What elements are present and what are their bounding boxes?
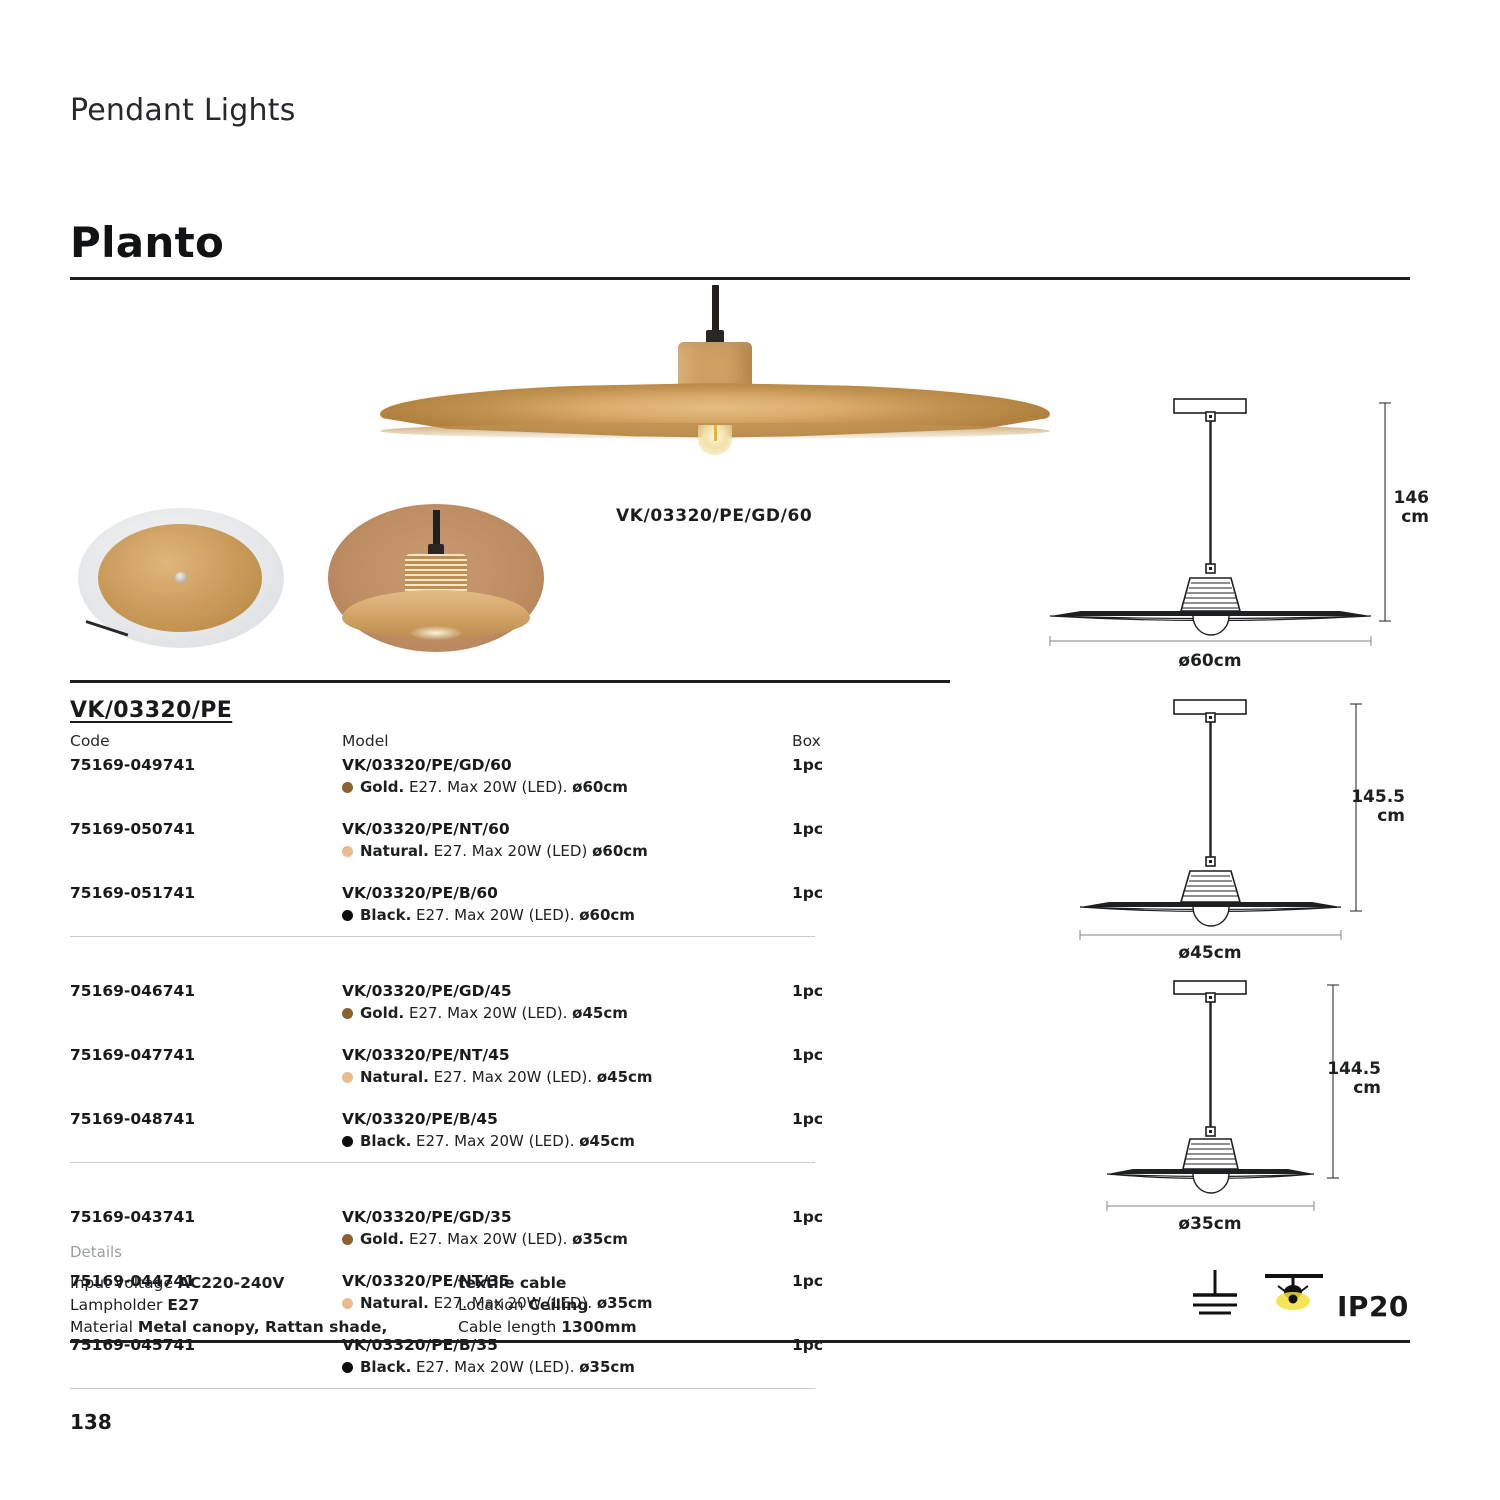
technical-drawing-35cm: 144.5 cm ø35cm <box>1040 975 1440 1250</box>
cord-graphic <box>712 285 719 335</box>
tech-height-unit: cm <box>1401 507 1429 527</box>
hero-caption: VK/03320/PE/GD/60 <box>616 506 812 526</box>
tech-height-value: 145.5 <box>1351 787 1405 807</box>
detail-line: Input voltage AC220-240V <box>70 1272 387 1294</box>
earth-ground-icon <box>1193 1270 1237 1313</box>
tech-diameter-label: ø45cm <box>1178 943 1241 963</box>
color-swatch-icon <box>342 1362 353 1373</box>
cell-model: VK/03320/PE/NT/45 <box>342 1046 510 1064</box>
tech-diameter-label: ø35cm <box>1178 1214 1241 1234</box>
diameter-text: ø60cm <box>592 842 648 860</box>
cell-model: VK/03320/PE/NT/60 <box>342 820 510 838</box>
finish-name: Black. <box>360 1132 411 1150</box>
table-row[interactable]: 75169-050741VK/03320/PE/NT/601pcNatural.… <box>70 820 830 838</box>
diameter-text: ø45cm <box>579 1132 635 1150</box>
cell-description: Black. E27. Max 20W (LED). ø35cm <box>342 1358 635 1376</box>
detail-line: textile cable <box>458 1272 637 1294</box>
finish-name: Black. <box>360 906 411 924</box>
sku-heading: VK/03320/PE <box>70 698 232 723</box>
ceiling-mount-icon <box>1265 1276 1323 1310</box>
product-table: Code Model Box 75169-049741VK/03320/PE/G… <box>70 732 830 750</box>
detail-value: Metal canopy, Rattan shade, <box>138 1318 387 1336</box>
spec-text: E27. Max 20W (LED) <box>429 842 592 860</box>
table-row[interactable]: 75169-051741VK/03320/PE/B/601pcBlack. E2… <box>70 884 830 902</box>
diameter-text: ø45cm <box>572 1004 628 1022</box>
cell-box: 1pc <box>792 1272 823 1290</box>
details-column-right: textile cableLocation CeilingCable lengt… <box>458 1272 637 1338</box>
technical-drawing-svg: 145.5 cm ø45cm <box>1040 690 1440 965</box>
diameter-text: ø60cm <box>572 778 628 796</box>
technical-drawing-svg: 144.5 cm ø35cm <box>1040 975 1440 1250</box>
cell-box: 1pc <box>792 1046 823 1064</box>
cell-model: VK/03320/PE/GD/45 <box>342 982 512 1000</box>
details-column-left: Input voltage AC220-240VLampholder E27Ma… <box>70 1272 387 1338</box>
thumbnail-light-glow-graphic <box>410 626 462 640</box>
detail-key: Lampholder <box>70 1296 167 1314</box>
spec-text: E27. Max 20W (LED). <box>411 1132 579 1150</box>
detail-key: Input voltage <box>70 1274 178 1292</box>
table-row[interactable]: 75169-049741VK/03320/PE/GD/601pcGold. E2… <box>70 756 830 774</box>
cell-model: VK/03320/PE/GD/60 <box>342 756 512 774</box>
cell-code: 75169-046741 <box>70 982 195 1000</box>
cell-code: 75169-048741 <box>70 1110 195 1128</box>
ip-rating-label: IP20 <box>1337 1290 1409 1323</box>
column-header-box: Box <box>792 732 821 750</box>
color-swatch-icon <box>342 846 353 857</box>
color-swatch-icon <box>342 910 353 921</box>
tech-height-value: 144.5 <box>1327 1059 1381 1079</box>
cell-box: 1pc <box>792 982 823 1000</box>
table-row[interactable]: 75169-043741VK/03320/PE/GD/351pcGold. E2… <box>70 1208 830 1226</box>
cell-code: 75169-043741 <box>70 1208 195 1226</box>
cell-box: 1pc <box>792 1336 823 1354</box>
cell-description: Gold. E27. Max 20W (LED). ø60cm <box>342 778 628 796</box>
thumbnail-cord-graphic <box>433 510 440 548</box>
finish-name: Natural. <box>360 842 429 860</box>
detail-key: Location <box>458 1296 528 1314</box>
header-divider <box>70 277 1410 280</box>
finish-name: Gold. <box>360 778 404 796</box>
spec-text: E27. Max 20W (LED). <box>411 906 579 924</box>
cell-description: Gold. E27. Max 20W (LED). ø45cm <box>342 1004 628 1022</box>
table-header-row: Code Model Box <box>70 732 830 750</box>
cell-box: 1pc <box>792 1110 823 1128</box>
cell-model: VK/03320/PE/B/35 <box>342 1336 498 1354</box>
diameter-text: ø45cm <box>597 1068 653 1086</box>
cell-model: VK/03320/PE/GD/35 <box>342 1208 512 1226</box>
cell-description: Natural. E27. Max 20W (LED) ø60cm <box>342 842 648 860</box>
table-group-separator <box>70 1388 815 1389</box>
detail-line: Cable length 1300mm <box>458 1316 637 1338</box>
technical-drawing-60cm: 146 cm ø60cm <box>1040 385 1440 675</box>
tech-height-unit: cm <box>1353 1078 1381 1098</box>
spec-text: E27. Max 20W (LED). <box>404 1230 572 1248</box>
detail-key: Material <box>70 1318 138 1336</box>
cell-code: 75169-047741 <box>70 1046 195 1064</box>
finish-name: Gold. <box>360 1004 404 1022</box>
detail-line: Lampholder E27 <box>70 1294 387 1316</box>
diameter-text: ø35cm <box>572 1230 628 1248</box>
cell-description: Black. E27. Max 20W (LED). ø60cm <box>342 906 635 924</box>
table-group-separator <box>70 936 815 937</box>
cell-description: Black. E27. Max 20W (LED). ø45cm <box>342 1132 635 1150</box>
spec-text: E27. Max 20W (LED). <box>404 778 572 796</box>
cell-box: 1pc <box>792 884 823 902</box>
details-label: Details <box>70 1243 122 1261</box>
detail-value: 1300mm <box>561 1318 636 1336</box>
finish-name: Natural. <box>360 1068 429 1086</box>
table-row[interactable]: 75169-046741VK/03320/PE/GD/451pcGold. E2… <box>70 982 830 1000</box>
cell-code: 75169-049741 <box>70 756 195 774</box>
diameter-text: ø60cm <box>579 906 635 924</box>
section-divider <box>70 680 950 683</box>
hero-product-image <box>380 285 1050 470</box>
page-title: Planto <box>70 218 224 267</box>
cell-code: 75169-050741 <box>70 820 195 838</box>
detail-key: Cable length <box>458 1318 561 1336</box>
finish-name: Black. <box>360 1358 411 1376</box>
cell-box: 1pc <box>792 756 823 774</box>
table-group-separator <box>70 1162 815 1163</box>
technical-drawing-45cm: 145.5 cm ø45cm <box>1040 690 1440 965</box>
color-swatch-icon <box>342 1136 353 1147</box>
thumbnail-screw-graphic <box>175 572 187 583</box>
cell-description: Gold. E27. Max 20W (LED). ø35cm <box>342 1230 628 1248</box>
cell-code: 75169-045741 <box>70 1336 195 1354</box>
cell-code: 75169-051741 <box>70 884 195 902</box>
color-swatch-icon <box>342 1234 353 1245</box>
column-header-model: Model <box>342 732 389 750</box>
spec-text: E27. Max 20W (LED). <box>404 1004 572 1022</box>
table-row[interactable]: 75169-045741VK/03320/PE/B/351pcBlack. E2… <box>70 1336 830 1354</box>
cell-box: 1pc <box>792 1208 823 1226</box>
detail-value: textile cable <box>458 1274 566 1292</box>
cell-description: Natural. E27. Max 20W (LED). ø45cm <box>342 1068 653 1086</box>
filament-graphic <box>714 425 717 441</box>
color-swatch-icon <box>342 782 353 793</box>
cell-model: VK/03320/PE/B/60 <box>342 884 498 902</box>
technical-drawing-svg: 146 cm ø60cm <box>1040 385 1440 675</box>
table-row[interactable]: 75169-048741VK/03320/PE/B/451pcBlack. E2… <box>70 1110 830 1128</box>
category-title: Pendant Lights <box>70 93 296 128</box>
color-swatch-icon <box>342 1008 353 1019</box>
detail-line: Location Ceiling <box>458 1294 637 1316</box>
color-swatch-icon <box>342 1072 353 1083</box>
column-header-code: Code <box>70 732 110 750</box>
cell-model: VK/03320/PE/B/45 <box>342 1110 498 1128</box>
detail-value: E27 <box>167 1296 199 1314</box>
table-row[interactable]: 75169-047741VK/03320/PE/NT/451pcNatural.… <box>70 1046 830 1064</box>
diameter-text: ø35cm <box>579 1358 635 1376</box>
tech-height-unit: cm <box>1377 806 1405 826</box>
spec-text: E27. Max 20W (LED). <box>429 1068 597 1086</box>
thumbnail-detail-view <box>328 498 544 658</box>
page-number: 138 <box>70 1410 112 1434</box>
cell-box: 1pc <box>792 820 823 838</box>
thumbnail-top-view <box>72 498 290 658</box>
detail-value: Ceiling <box>528 1296 588 1314</box>
tech-diameter-label: ø60cm <box>1178 651 1241 671</box>
footer-divider <box>70 1340 1410 1343</box>
detail-line: Material Metal canopy, Rattan shade, <box>70 1316 387 1338</box>
spec-text: E27. Max 20W (LED). <box>411 1358 579 1376</box>
detail-value: AC220-240V <box>178 1274 285 1292</box>
tech-height-value: 146 <box>1394 488 1430 508</box>
finish-name: Gold. <box>360 1230 404 1248</box>
catalog-page: Pendant Lights Planto VK/03320/PE/GD/60 … <box>0 0 1500 1500</box>
